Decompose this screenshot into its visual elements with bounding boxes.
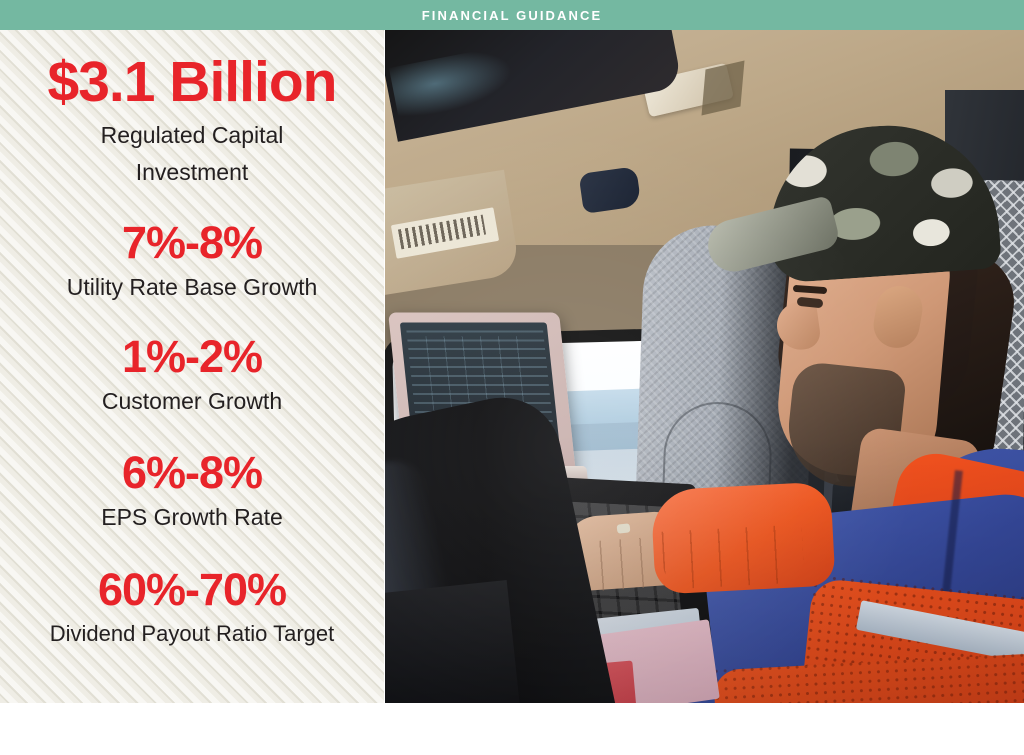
worker-wedding-ring [617,523,631,533]
stat-item-dividend-payout-ratio-target: 60%-70% Dividend Payout Ratio Target [16,567,368,650]
bottom-margin [0,703,1024,755]
stat-value: 60%-70% [98,567,286,612]
slide-financial-guidance: FINANCIAL GUIDANCE $3.1 Billion Regulate… [0,0,1024,755]
stat-label-line-1: Dividend Payout Ratio Target [50,618,335,650]
dashboard [385,580,522,703]
stat-item-eps-growth-rate: 6%-8% EPS Growth Rate [16,450,368,534]
stat-label-line-1: Customer Growth [102,385,282,418]
stat-label-line-2: Investment [136,154,249,191]
header-title: FINANCIAL GUIDANCE [422,9,603,22]
stat-label-line-1: Regulated Capital [101,117,284,154]
stat-item-utility-rate-base-growth: 7%-8% Utility Rate Base Growth [16,220,368,304]
stat-value: 1%-2% [122,334,262,379]
header-bar: FINANCIAL GUIDANCE [0,0,1024,30]
work-glove-fingers [662,524,805,589]
stat-value: 6%-8% [122,450,262,495]
stat-item-regulated-capital-investment: $3.1 Billion Regulated Capital Investmen… [16,54,368,192]
stat-value: $3.1 Billion [48,54,337,111]
photo-field-worker-in-truck: Panasonic [385,30,1024,703]
stat-value: 7%-8% [122,220,262,265]
stats-panel: $3.1 Billion Regulated Capital Investmen… [0,30,384,703]
stat-item-customer-growth: 1%-2% Customer Growth [16,334,368,418]
stat-label-line-1: Utility Rate Base Growth [67,271,318,304]
stat-label-line-1: EPS Growth Rate [101,501,283,534]
